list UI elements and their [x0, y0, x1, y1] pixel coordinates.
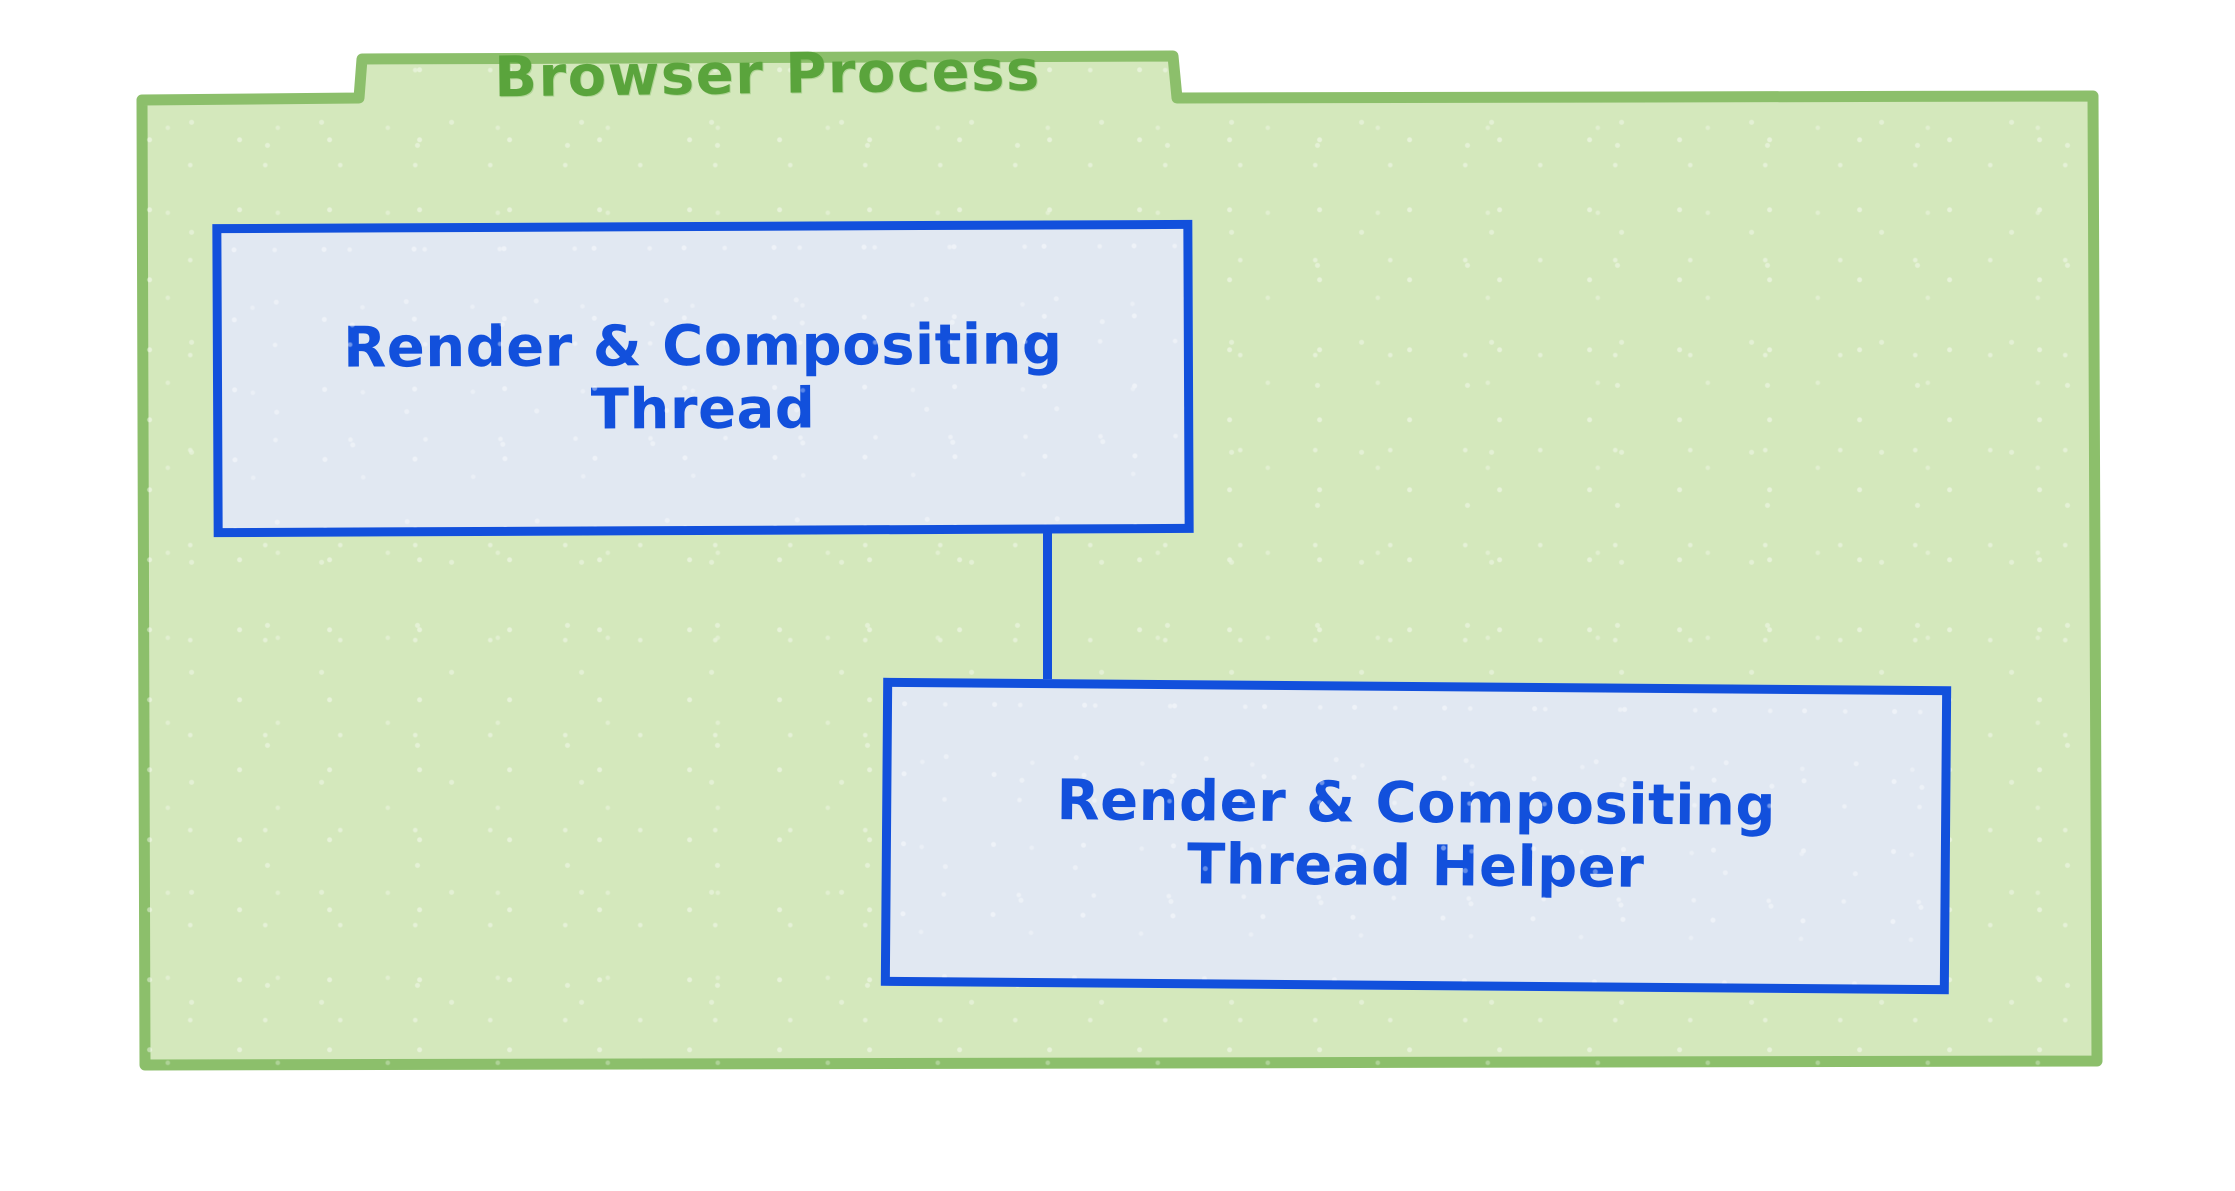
node-label-line2: Thread — [591, 376, 816, 442]
page-title: Browser Process — [360, 43, 1176, 105]
node-label: Render & Compositing Thread Helper — [1030, 770, 1802, 901]
connector-thread-to-helper — [1043, 530, 1052, 688]
node-label-line2: Thread Helper — [1187, 832, 1645, 901]
node-label-line1: Render & Compositing — [343, 312, 1063, 380]
node-label-line1: Render & Compositing — [1056, 768, 1776, 839]
node-label: Render & Compositing Thread — [317, 314, 1089, 443]
node-render-compositing-thread-helper[interactable]: Render & Compositing Thread Helper — [881, 678, 1951, 994]
diagram-canvas: Browser Process Render & Compositing Thr… — [0, 0, 2235, 1191]
node-render-compositing-thread[interactable]: Render & Compositing Thread — [212, 220, 1193, 537]
